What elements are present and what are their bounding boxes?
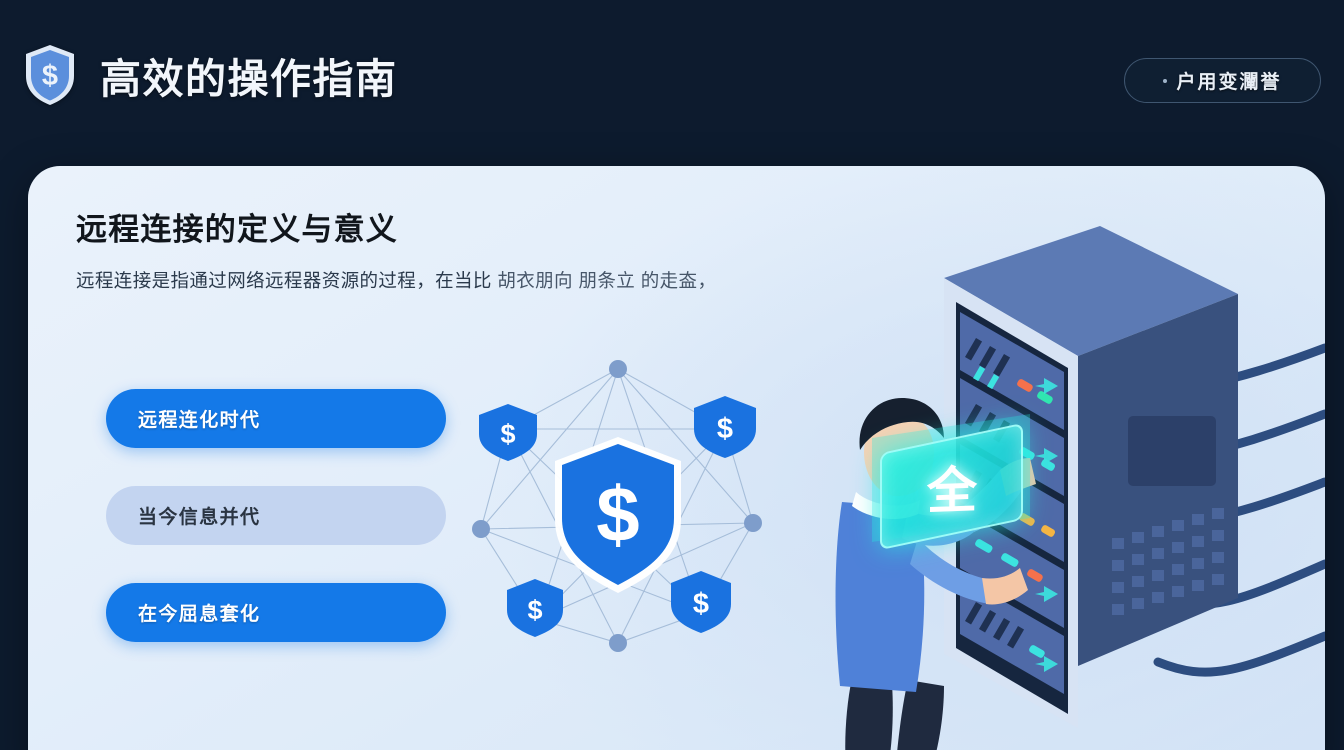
- option-pill-3[interactable]: 在今屈息套化: [106, 583, 446, 642]
- app-header: $ 高效的操作指南 户用变灛誉: [0, 0, 1344, 150]
- option-pill-1[interactable]: 远程连化时代: [106, 389, 446, 448]
- card-heading: 远程连接的定义与意义: [76, 204, 796, 249]
- satellite-shield-bottom-left: $: [507, 579, 563, 637]
- svg-text:$: $: [527, 595, 542, 625]
- header-action-button[interactable]: 户用变灛誉: [1124, 58, 1321, 103]
- network-node-bottom: [609, 634, 627, 652]
- server-illustration: 全: [768, 166, 1325, 750]
- paragraph-garbled-text-1: 胡衣朋向 朋条立: [497, 270, 635, 291]
- bullet-dot-icon: [1163, 79, 1167, 83]
- paragraph-clear-text: 远程连接是指通过网络远程器资源的过程，在当比: [76, 270, 492, 291]
- satellite-shield-top-left: $: [479, 404, 537, 461]
- brand-lockup: $ 高效的操作指南: [22, 43, 398, 107]
- svg-text:$: $: [596, 470, 639, 558]
- option-pill-1-label: 远程连化时代: [138, 405, 260, 432]
- page-title: 高效的操作指南: [100, 45, 398, 105]
- shield-dollar-icon: $: [22, 43, 78, 107]
- satellite-shield-bottom-right: $: [671, 571, 731, 633]
- rack-side-screen: [1128, 416, 1216, 486]
- network-node-top: [609, 360, 627, 378]
- option-pill-2-label: 当今信息并代: [138, 502, 260, 529]
- network-node-left: [472, 520, 490, 538]
- paragraph-garbled-text-2: 的走盇，: [641, 270, 717, 291]
- option-pill-2[interactable]: 当今信息并代: [106, 486, 446, 545]
- hologram-label: 全: [927, 450, 977, 524]
- content-card: 远程连接的定义与意义 远程连接是指通过网络远程器资源的过程，在当比 胡衣朋向 朋…: [28, 166, 1325, 750]
- svg-text:$: $: [42, 60, 58, 92]
- card-paragraph: 远程连接是指通过网络远程器资源的过程，在当比 胡衣朋向 朋条立 的走盇，: [76, 265, 776, 297]
- shield-dollar-icon: $: [555, 437, 681, 593]
- card-text-column: 远程连接的定义与意义 远程连接是指通过网络远程器资源的过程，在当比 胡衣朋向 朋…: [76, 204, 796, 297]
- option-pill-3-label: 在今屈息套化: [138, 599, 260, 626]
- svg-text:$: $: [717, 413, 733, 445]
- network-node-right: [744, 514, 762, 532]
- network-diagram: $ $ $ $ $: [453, 341, 783, 671]
- svg-text:$: $: [693, 588, 709, 620]
- server-rack-icon: [768, 166, 1325, 750]
- option-list: 远程连化时代 当今信息并代 在今屈息套化: [106, 389, 446, 642]
- header-action-label: 户用变灛誉: [1176, 67, 1281, 94]
- svg-text:$: $: [500, 419, 515, 449]
- satellite-shield-top-right: $: [694, 396, 756, 458]
